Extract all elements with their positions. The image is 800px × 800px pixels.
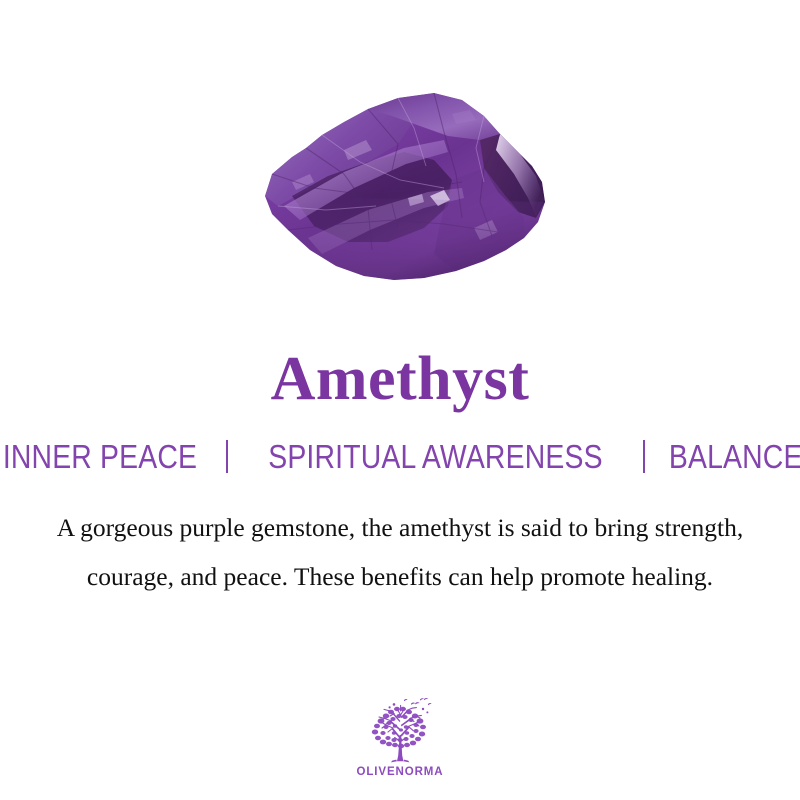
amethyst-raw-crystal-photo [248, 78, 558, 293]
keyword-inner-peace: INNER PEACE [3, 440, 197, 473]
keyword-balance: BALANCE [669, 440, 800, 473]
bird-icon [404, 699, 408, 701]
brand-block: OLIVENORMA [0, 695, 800, 778]
hero-image-area [0, 0, 800, 320]
page-title: Amethyst [0, 348, 800, 410]
bird-icon [420, 698, 428, 701]
tree-of-life-icon [361, 695, 439, 763]
amethyst-info-card: Amethyst INNER PEACE SPIRITUAL AWARENESS… [0, 0, 800, 800]
keyword-separator [643, 440, 645, 473]
description-text: A gorgeous purple gemstone, the amethyst… [44, 503, 756, 601]
brand-name: OLIVENORMA [357, 766, 444, 778]
keyword-list: INNER PEACE SPIRITUAL AWARENESS BALANCE [0, 440, 800, 473]
gem-body [248, 78, 558, 293]
bird-icon [411, 702, 420, 705]
keyword-separator [226, 440, 228, 473]
bird-icon [428, 703, 432, 705]
keyword-spiritual-awareness: SPIRITUAL AWARENESS [268, 440, 602, 473]
